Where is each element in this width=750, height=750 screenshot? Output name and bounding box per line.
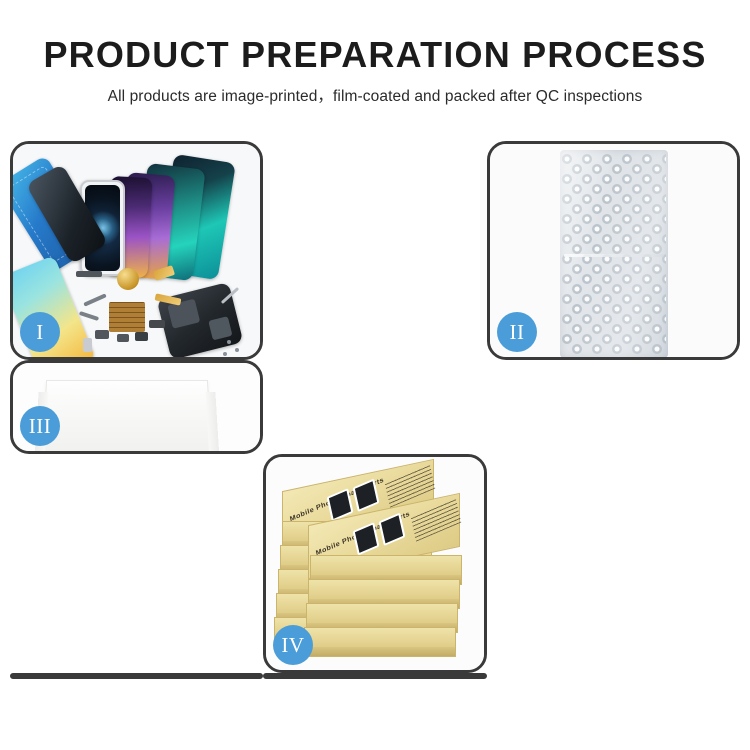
step-badge-1: I — [20, 312, 60, 352]
process-step-5[interactable]: V — [10, 673, 263, 679]
process-step-grid: I II II — [10, 141, 740, 679]
product-preparation-infographic: PRODUCT PREPARATION PROCESS All products… — [0, 0, 750, 750]
bubble-wrap-bag — [560, 150, 668, 357]
chip-part-2 — [95, 330, 109, 339]
logic-board-part — [109, 302, 145, 332]
chip-part-3 — [117, 334, 129, 342]
chip-part-1 — [76, 271, 102, 277]
header: PRODUCT PREPARATION PROCESS All products… — [0, 0, 750, 106]
chip-part-4 — [135, 332, 148, 341]
step-badge-4: IV — [273, 625, 313, 665]
process-step-3[interactable]: III — [10, 360, 263, 454]
step-badge-2: II — [497, 312, 537, 352]
mailer-box-lid — [40, 380, 215, 451]
process-step-1[interactable]: I — [10, 141, 263, 360]
process-step-2[interactable]: II — [487, 141, 740, 360]
speaker-part — [117, 268, 139, 290]
chip-part-5 — [83, 338, 92, 352]
page-title: PRODUCT PREPARATION PROCESS — [0, 36, 750, 74]
page-subtitle: All products are image-printed，film-coat… — [0, 84, 750, 106]
step-badge-3: III — [20, 406, 60, 446]
chip-part-6 — [149, 320, 165, 328]
process-step-4[interactable]: Mobile Phone Spare Parts Mobile Phone Sp… — [263, 454, 487, 673]
process-step-6[interactable]: VI — [263, 673, 487, 679]
